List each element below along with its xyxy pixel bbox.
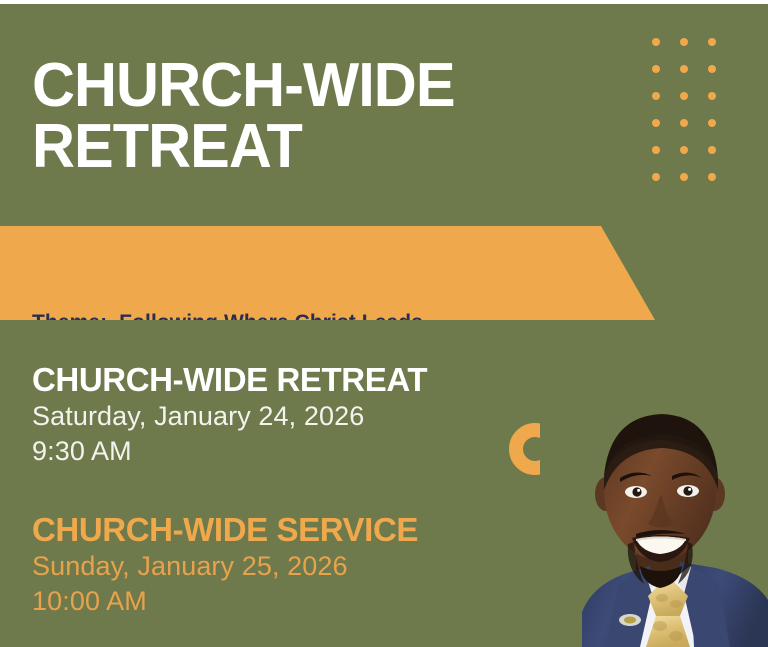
event-title-service: CHURCH-WIDE SERVICE xyxy=(32,512,418,549)
headline-line-1: CHURCH-WIDE xyxy=(32,56,608,117)
theme-banner: Theme: Following Where Christ Leads Scri… xyxy=(0,226,660,320)
dot-icon xyxy=(680,173,688,181)
event-title-retreat: CHURCH-WIDE RETREAT xyxy=(32,362,427,399)
dot-icon xyxy=(652,65,660,73)
event-time-service: 10:00 AM xyxy=(32,584,418,619)
dot-icon xyxy=(652,92,660,100)
page-title: CHURCH-WIDE RETREAT xyxy=(32,56,608,178)
dot-icon xyxy=(680,146,688,154)
dot-icon xyxy=(708,119,716,127)
dot-icon xyxy=(652,146,660,154)
event-time-retreat: 9:30 AM xyxy=(32,434,427,469)
speaker-portrait xyxy=(540,398,768,647)
dot-icon xyxy=(708,92,716,100)
dot-grid-decoration xyxy=(652,38,736,200)
event-block-retreat: CHURCH-WIDE RETREAT Saturday, January 24… xyxy=(32,362,427,468)
top-white-edge xyxy=(0,0,768,4)
flyer-canvas: CHURCH-WIDE RETREAT Theme: Following Whe… xyxy=(0,0,768,647)
dot-icon xyxy=(708,65,716,73)
dot-icon xyxy=(708,38,716,46)
dot-icon xyxy=(680,119,688,127)
dot-icon xyxy=(680,92,688,100)
dot-icon xyxy=(708,146,716,154)
event-date-service: Sunday, January 25, 2026 xyxy=(32,549,418,584)
event-date-retreat: Saturday, January 24, 2026 xyxy=(32,399,427,434)
dot-icon xyxy=(680,65,688,73)
lapel-pin-icon xyxy=(619,614,641,626)
dot-icon xyxy=(652,38,660,46)
theme-line: Theme: Following Where Christ Leads xyxy=(32,307,423,340)
dot-icon xyxy=(680,38,688,46)
dot-icon xyxy=(652,173,660,181)
event-block-service: CHURCH-WIDE SERVICE Sunday, January 25, … xyxy=(32,512,418,618)
headline-line-2: RETREAT xyxy=(32,117,608,178)
dot-icon xyxy=(652,119,660,127)
speaker-portrait-graphic xyxy=(540,398,768,647)
dot-icon xyxy=(708,173,716,181)
